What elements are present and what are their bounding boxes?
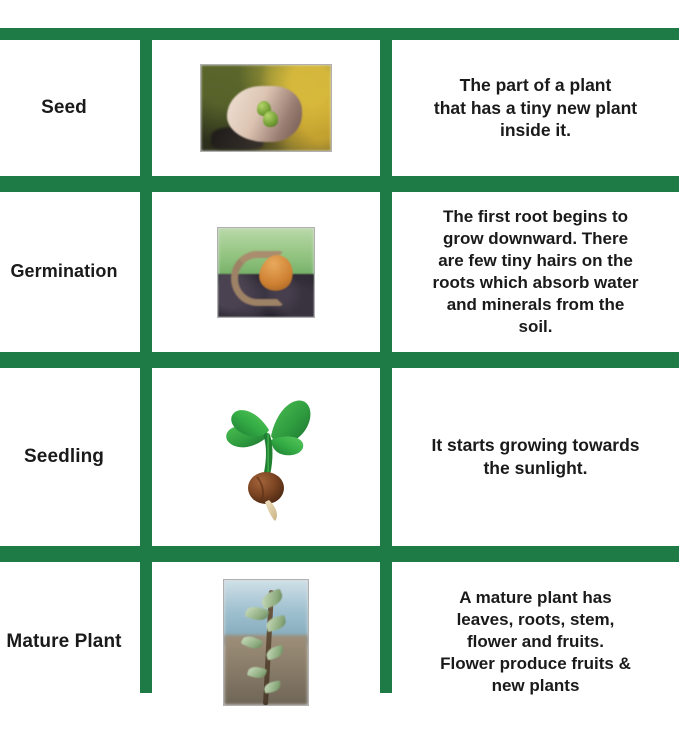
table-row: Germination The first root begins to gro… xyxy=(0,192,679,368)
seedling-illustration xyxy=(207,388,325,526)
stage-image-cell xyxy=(152,192,380,352)
table-row: Seedling xyxy=(0,368,679,562)
stage-description-cell: It starts growing towards the sunlight. xyxy=(392,368,679,546)
stage-description-cell: A mature plant has leaves, roots, stem, … xyxy=(392,562,679,722)
stage-label: Seedling xyxy=(20,445,108,469)
stage-description-cell: The first root begins to grow downward. … xyxy=(392,192,679,352)
mature-plant-photo xyxy=(223,579,309,706)
stage-name-cell: Seedling xyxy=(0,368,140,546)
stage-description: The part of a plant that has a tiny new … xyxy=(420,74,651,142)
lifecycle-table: Seed The part of a plant that has a tiny… xyxy=(0,28,679,693)
stage-image-cell xyxy=(152,562,380,722)
table-row: Mature Plant A mature plant has leav xyxy=(0,562,679,738)
seed-photo xyxy=(200,64,332,152)
stage-name-cell: Mature Plant xyxy=(0,562,140,722)
germination-photo xyxy=(217,227,315,318)
stage-description: A mature plant has leaves, roots, stem, … xyxy=(426,587,645,697)
stage-label: Mature Plant xyxy=(2,630,125,654)
seedling-stem-icon xyxy=(267,436,269,474)
stage-name-cell: Germination xyxy=(0,192,140,352)
table-row: Seed The part of a plant that has a tiny… xyxy=(0,40,679,192)
seedling-leaf-icon xyxy=(271,437,303,456)
stage-label: Germination xyxy=(6,260,121,283)
stage-description-cell: The part of a plant that has a tiny new … xyxy=(392,40,679,176)
stage-name-cell: Seed xyxy=(0,40,140,176)
seedling-seed-icon xyxy=(248,472,284,504)
seed-kernel-icon xyxy=(263,111,277,126)
stage-description: The first root begins to grow downward. … xyxy=(419,206,653,339)
seedling-root-icon xyxy=(265,500,277,521)
stage-image-cell xyxy=(152,368,380,546)
stage-description: It starts growing towards the sunlight. xyxy=(417,434,653,480)
plant-life-cycle-table-page: Seed The part of a plant that has a tiny… xyxy=(0,0,679,679)
stage-image-cell xyxy=(152,40,380,176)
stage-label: Seed xyxy=(37,96,91,120)
